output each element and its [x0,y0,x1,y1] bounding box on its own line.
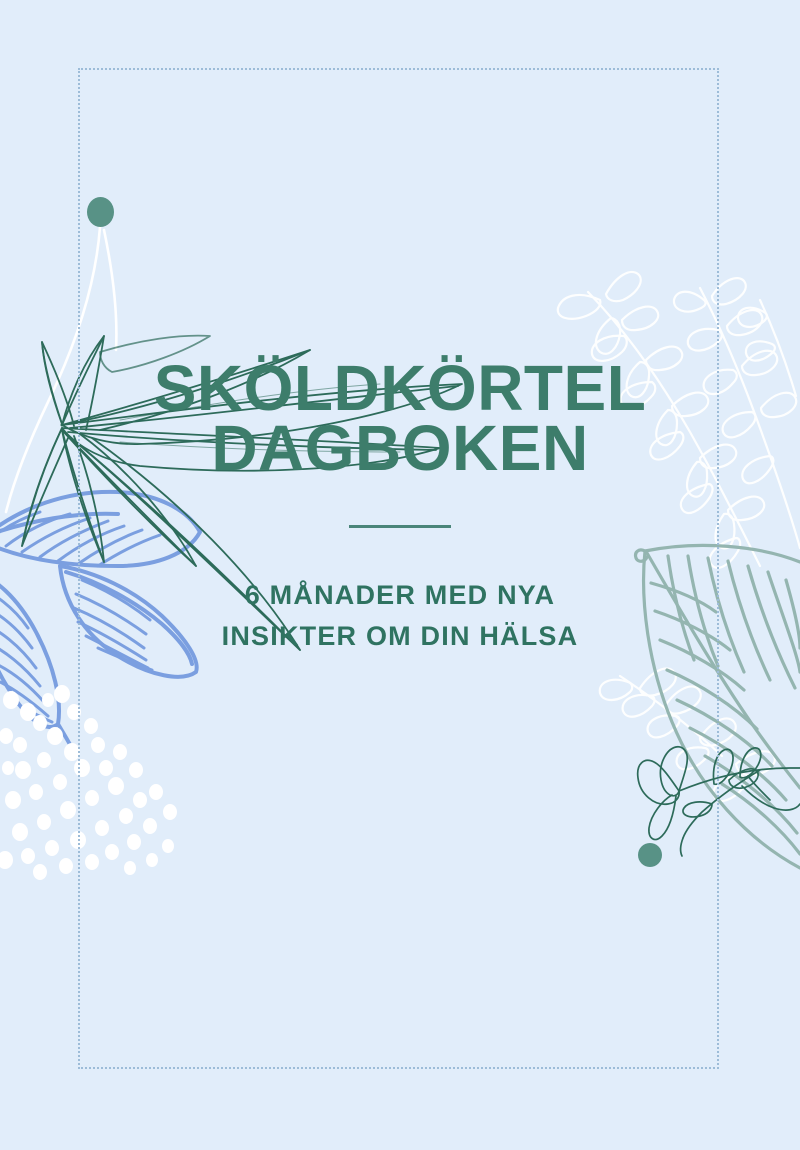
title-line-1: SKÖLDKÖRTEL [0,358,800,418]
divider-wrapper [0,518,800,536]
subtitle-line-1: 6 MÅNADER MED NYA [0,575,800,616]
book-cover: SKÖLDKÖRTEL DAGBOKEN 6 MÅNADER MED NYA I… [0,0,800,1150]
subtitle-line-2: INSIKTER OM DIN HÄLSA [0,616,800,657]
accent-circle-top-left [87,197,114,227]
cover-text-block: SKÖLDKÖRTEL DAGBOKEN 6 MÅNADER MED NYA I… [0,358,800,657]
cover-subtitle: 6 MÅNADER MED NYA INSIKTER OM DIN HÄLSA [0,536,800,657]
accent-circle-bottom-right [638,843,662,867]
title-line-2: DAGBOKEN [0,418,800,478]
title-divider [349,525,451,528]
page-title: SKÖLDKÖRTEL DAGBOKEN [0,358,800,478]
